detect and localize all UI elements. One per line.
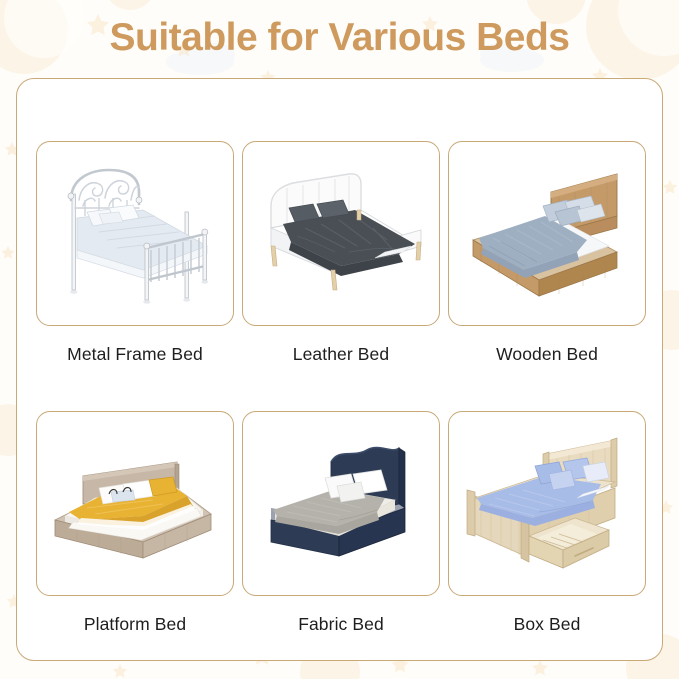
bed-image-card[interactable]: [242, 411, 440, 596]
fabric-bed-illustration: [253, 424, 429, 584]
leather-bed-illustration: [253, 154, 429, 314]
bed-label: Box Bed: [514, 613, 581, 635]
bed-image-card[interactable]: [448, 411, 646, 596]
wooden-bed-illustration: [459, 154, 635, 314]
bed-item-metal-frame-bed[interactable]: Metal Frame Bed: [36, 141, 234, 409]
metal-frame-bed-illustration: [47, 154, 223, 314]
bed-label: Leather Bed: [293, 343, 389, 365]
bed-image-card[interactable]: [36, 411, 234, 596]
platform-bed-illustration: [47, 424, 223, 584]
bed-types-grid: Metal Frame Bed: [36, 141, 646, 679]
beds-panel: Metal Frame Bed: [16, 78, 663, 661]
bed-item-leather-bed[interactable]: Leather Bed: [242, 141, 440, 409]
bed-item-box-bed[interactable]: Box Bed: [448, 411, 646, 679]
bed-image-card[interactable]: [36, 141, 234, 326]
bed-item-fabric-bed[interactable]: Fabric Bed: [242, 411, 440, 679]
bed-image-card[interactable]: [448, 141, 646, 326]
bed-label: Platform Bed: [84, 613, 186, 635]
page-title: Suitable for Various Beds: [0, 14, 679, 62]
bed-label: Metal Frame Bed: [67, 343, 203, 365]
bed-label: Wooden Bed: [496, 343, 598, 365]
bed-image-card[interactable]: [242, 141, 440, 326]
box-bed-illustration: [459, 424, 635, 584]
bed-item-platform-bed[interactable]: Platform Bed: [36, 411, 234, 679]
bed-item-wooden-bed[interactable]: Wooden Bed: [448, 141, 646, 409]
bed-label: Fabric Bed: [298, 613, 384, 635]
